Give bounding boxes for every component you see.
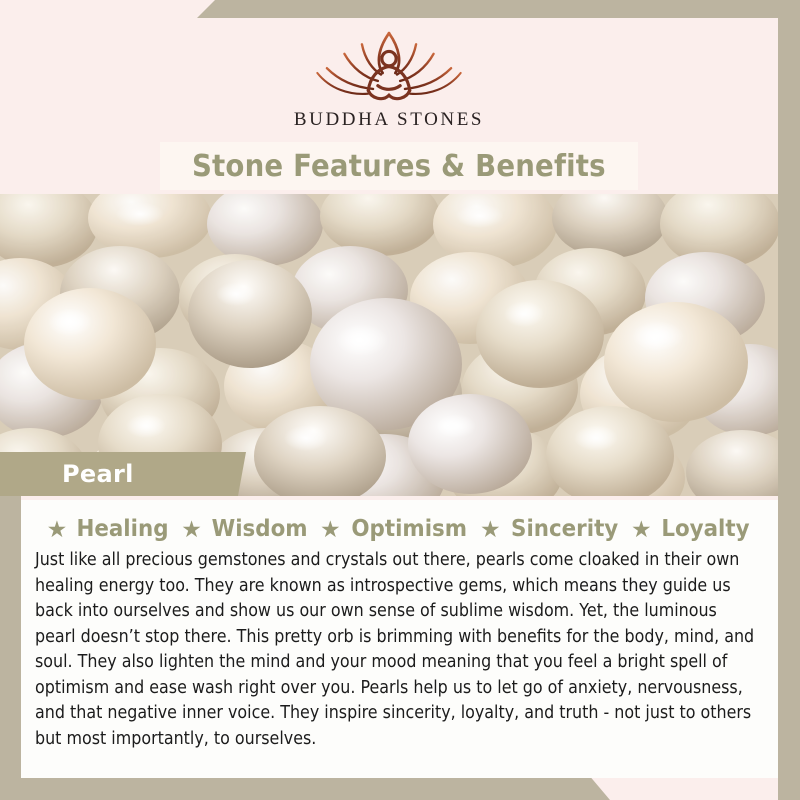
benefit-label: Loyalty [661,516,749,542]
star-icon: ★ [480,518,501,541]
brand-wordmark: BUDDHA STONES [294,109,484,131]
benefits-list: ★ Healing ★ Wisdom ★ Optimism ★ Sincerit… [35,516,764,542]
brand-logo-block: BUDDHA STONES [0,22,778,140]
benefit-label: Sincerity [511,516,618,542]
page-title: Stone Features & Benefits [192,149,606,184]
pearl-photo-graphic [0,194,778,496]
benefit-label: Wisdom [211,516,307,542]
stone-name-label: Pearl [62,460,134,488]
star-icon: ★ [631,518,652,541]
benefit-item-loyalty: ★ Loyalty [631,516,752,542]
frame-right-bar [778,0,800,800]
benefit-item-healing: ★ Healing [47,516,173,542]
lotus-meditation-icon [309,22,469,108]
frame-top-bar [0,0,800,18]
star-icon: ★ [47,518,68,541]
star-icon: ★ [181,518,202,541]
star-icon: ★ [320,518,341,541]
infographic-card: BUDDHA STONES Stone Features & Benefits [0,0,800,800]
benefit-label: Healing [77,516,169,542]
benefit-item-optimism: ★ Optimism [320,516,471,542]
description-panel: ★ Healing ★ Wisdom ★ Optimism ★ Sincerit… [21,500,778,778]
stone-name-band: Pearl [0,452,246,496]
frame-left-bar [0,495,21,800]
section-title-band: Stone Features & Benefits [160,142,638,190]
description-text: Just like all precious gemstones and cry… [35,548,762,752]
pearl-photo [0,194,778,496]
benefit-item-sincerity: ★ Sincerity [480,516,622,542]
benefit-item-wisdom: ★ Wisdom [181,516,311,542]
benefit-label: Optimism [351,516,467,542]
